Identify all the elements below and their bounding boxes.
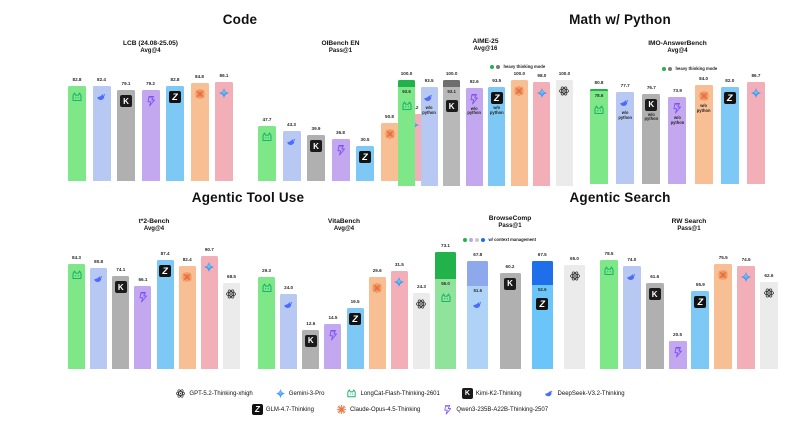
bar-group: 65.0 [564,241,585,369]
panel-subtitle: Avg@16 [398,46,573,54]
bar-value-label: 79.2 [146,81,155,86]
bar-group: 30.5Z [356,66,374,181]
glm-z-icon: Z [536,298,548,310]
sub-bar-value-label: 93.6 [402,89,411,94]
deepseek-whale-icon [93,273,105,285]
bar-group: 68.5 [223,244,240,369]
panel-title: LCB (24.08-25.05) [68,40,233,48]
plot-area: 73.156.067.851.660.2K67.552.6Z65.0 [435,241,585,369]
bar-value-label: 24.0 [284,285,293,290]
bar: 68.5 [223,283,240,369]
kimi-k-icon: K [446,100,458,112]
bar-value-label: 24.3 [417,284,426,289]
bar-value-label: 29.6 [373,268,382,273]
bar: 43.3 [283,131,301,181]
gemini-spark-icon [750,87,762,99]
bar: 47.7 [258,126,276,181]
longcat-icon [593,104,605,116]
bar-group: 29.6 [369,244,386,369]
bar-value-label: 31.5 [395,262,404,267]
bar: 39.9K [307,135,325,181]
section-title-code: Code [160,12,320,27]
bar-value-label: 80.8 [94,259,103,264]
bar-annotation: w/o python [618,111,632,120]
bar: 24.3 [413,293,430,369]
bar-group: 79.2 [142,66,160,181]
bar: 87.4Z [157,260,174,369]
bar-group: 39.9K [307,66,325,181]
bar-annotation: w/o python [644,113,658,122]
panel-lcb-24-08-25-05-: LCB (24.08-25.05)Avg@482.882.479.1K79.28… [68,40,233,181]
legend-item-label: GPT-5.2-Thinking-xhigh [189,391,252,397]
legend-item[interactable]: DeepSeek-V3.2-Thinking [544,388,625,399]
panel-subtitle: Avg@4 [258,226,430,234]
openai-flower-icon [763,287,775,299]
bar-annotation: w/o python [490,106,504,115]
kimi-k-icon: K [504,278,516,290]
sub-bar-value-label: 56.0 [441,281,450,286]
bar-group: 74.1K [112,244,129,369]
sub-bar-value-label: 51.6 [473,288,482,293]
bar-group: 82.8 [68,66,86,181]
deepseek-whale-icon [544,388,555,399]
bar-value-label: 12.6 [306,321,315,326]
bar-group: 100.0 [511,64,528,186]
bar: 86.7 [747,82,765,184]
bar-group: 84.0w/o python [695,66,713,184]
longcat-icon [440,292,452,304]
bar-value-label: 43.3 [287,122,296,127]
bar-value-label: 67.5 [538,252,547,257]
glm-z-icon: Z [349,313,361,325]
panel-t-2-bench: t*2-BenchAvg@484.380.874.1K66.187.4Z82.4… [68,218,240,369]
panel-browsecomp: BrowseCompPass@1w/ context management73.… [435,215,585,369]
bar: 20.5 [669,341,687,369]
bar: 82.8Z [166,86,184,181]
bar-group: 82.0Z [721,66,739,184]
bar-value-label: 100.0 [446,71,458,76]
bar-value-label: 86.1 [220,73,229,78]
bar-value-label: 93.5 [492,78,501,83]
bar-value-label: 66.1 [138,277,147,282]
deepseek-whale-icon [283,299,295,311]
bar: 80.8 [90,268,107,369]
legend-item-label: Claude-Opus-4.5-Thinking [350,407,420,413]
legend-item[interactable]: Gemini-3-Pro [275,388,325,399]
bar-group: 29.3 [258,244,275,369]
bar: 82.8 [68,86,86,181]
plot-area: 82.882.479.1K79.282.8Z84.886.1 [68,66,233,181]
legend-item-label: LongCat-Flash-Thinking-2601 [360,391,439,397]
bar: 74.1K [112,276,129,369]
bar-value-label: 80.8 [595,80,604,85]
glm-z-icon: Z [252,404,263,415]
claude-sunburst-icon [698,90,710,102]
bar: 80.878.6 [590,89,608,184]
bar-value-label: 61.6 [650,274,659,279]
panel-title: VitaBench [258,218,430,226]
legend-item[interactable]: KKimi-K2-Thinking [462,388,522,399]
bar-value-label: 74.0 [627,257,636,262]
bar-annotation: w/o python [697,104,711,113]
bar: 79.2 [142,90,160,181]
bar: 30.5Z [356,146,374,181]
gemini-spark-icon [740,271,752,283]
bar: 79.1K [117,90,135,181]
bar: 78.5 [600,260,618,369]
legend-item[interactable]: LongCat-Flash-Thinking-2601 [346,388,439,399]
panel-title: IMO-AnswerBench [590,40,765,48]
bar-group: 74.0 [623,244,641,369]
bar-group: 79.1K [117,66,135,181]
bar-value-label: 82.8 [73,77,82,82]
bar-group: 82.8Z [166,66,184,181]
bar-group: 100.093.1K [443,64,460,186]
bar-group: 84.3 [68,244,85,369]
panel-title: BrowseComp [435,215,585,223]
bar: 73.156.0 [435,252,456,369]
bar-group: 61.6K [646,244,664,369]
bar-value-label: 86.7 [751,73,760,78]
bar-group: 82.4 [179,244,196,369]
deepseek-whale-icon [286,136,298,148]
bar-value-label: 84.0 [699,76,708,81]
legend-item[interactable]: Qwen3-235B-A22B-Thinking-2507 [442,404,548,415]
bar-value-label: 100.0 [514,71,526,76]
bar: 93.5Zw/o python [488,87,505,186]
gemini-spark-icon [393,276,405,288]
claude-sunburst-icon [717,269,729,281]
bar: 55.9Z [691,291,709,369]
bar: 31.5 [391,271,408,369]
bar: 92.6w/o python [466,88,483,186]
bar-annotation: w/o python [422,106,436,115]
bar-value-label: 65.0 [570,256,579,261]
bar-value-label: 82.4 [97,77,106,82]
openai-flower-icon [225,288,237,300]
qwen-icon [442,404,453,415]
bar: 84.8 [191,83,209,181]
bar-group: 31.5 [391,244,408,369]
bar-group: 78.5 [600,244,618,369]
gemini-spark-icon [275,388,286,399]
bar: 29.3 [258,277,275,369]
longcat-icon [71,269,83,281]
bar-group: 98.0 [533,64,550,186]
panel-subtitle: Avg@4 [590,48,765,56]
openai-flower-icon [569,270,581,282]
qwen-icon [671,102,683,114]
bar: 100.0 [511,80,528,186]
gemini-spark-icon [218,87,230,99]
bar: 74.5 [737,266,755,369]
kimi-k-icon: K [120,95,132,107]
bar-group: 73.9w/o python [668,66,686,184]
bar-value-label: 30.5 [361,137,370,142]
bar-value-label: 90.7 [205,247,214,252]
bar-group: 19.5Z [347,244,364,369]
bar-group: 50.8 [381,66,399,181]
bar: 65.0 [564,265,585,369]
bar: 93.5w/o python [421,87,438,186]
gemini-spark-icon [536,87,548,99]
bar-value-label: 98.0 [537,73,546,78]
bar-group: 76.7Kw/o python [642,66,660,184]
bar: 84.3 [68,264,85,369]
bar-value-label: 20.5 [673,332,682,337]
section-title-search: Agentic Search [520,190,720,205]
bar: 14.5 [324,324,341,369]
bar-value-label: 73.9 [673,88,682,93]
bar-group: 87.4Z [157,244,174,369]
kimi-k-icon: K [645,99,657,111]
bar-value-label: 82.8 [171,77,180,82]
qwen-icon [137,291,149,303]
openai-flower-icon [415,298,427,310]
bar-group: 90.7 [201,244,218,369]
qwen-icon [672,346,684,358]
panel-rw-search: RW SearchPass@178.574.061.6K20.555.9Z75.… [600,218,778,369]
figure-legend: GPT-5.2-Thinking-xhighGemini-3-ProLongCa… [0,388,800,415]
bar-group: 47.7 [258,66,276,181]
deepseek-whale-icon [619,97,631,109]
bar-value-label: 78.5 [605,251,614,256]
bar-group: 84.8 [191,66,209,181]
bar-value-label: 55.9 [696,282,705,287]
kimi-k-icon: K [305,335,317,347]
legend-row-2: ZGLM-4.7-ThinkingClaude-Opus-4.5-Thinkin… [241,404,559,415]
bar: 67.552.6Z [532,261,553,369]
glm-z-icon: Z [169,91,181,103]
bar: 82.4 [93,86,111,181]
bar-group: 82.4 [93,66,111,181]
bar-value-label: 60.2 [506,264,515,269]
bar: 24.0 [280,294,297,369]
bar-value-label: 68.5 [227,274,236,279]
bar-group: 43.3 [283,66,301,181]
bar-value-label: 75.5 [719,255,728,260]
bar: 60.2K [500,273,521,369]
bar-group: 80.8 [90,244,107,369]
bar: 29.6 [369,277,386,370]
glm-z-icon: Z [491,92,503,104]
legend-item-label: GLM-4.7-Thinking [266,407,314,413]
deepseek-whale-icon [96,91,108,103]
bar-group: 14.5 [324,244,341,369]
bar-group: 24.0 [280,244,297,369]
bar-group: 36.8 [332,66,350,181]
claude-sunburst-icon [384,128,396,140]
bar: 12.6K [302,330,319,369]
bar-value-label: 39.9 [312,126,321,131]
kimi-k-icon: K [462,388,473,399]
bar: 100.0 [556,80,573,186]
bar-value-label: 84.3 [72,255,81,260]
bar-value-label: 92.6 [470,79,479,84]
bar: 61.6K [646,283,664,369]
bar-annotation: w/o python [467,107,481,116]
longcat-icon [346,388,357,399]
longcat-icon [401,100,413,112]
bar-value-label: 29.3 [262,268,271,273]
bar-group: 66.1 [134,244,151,369]
bar-value-label: 77.7 [621,83,630,88]
bar-group: 55.9Z [691,244,709,369]
bar: 82.4 [179,266,196,369]
longcat-icon [603,265,615,277]
sub-bar-value-label: 52.6 [538,287,547,292]
kimi-k-icon: K [649,288,661,300]
panel-subtitle: Avg@4 [68,48,233,56]
bar-value-label: 67.8 [473,252,482,257]
qwen-icon [327,329,339,341]
kimi-k-icon: K [310,140,322,152]
plot-area: 80.878.677.7w/o python76.7Kw/o python73.… [590,66,765,184]
bar-group: 77.7w/o python [616,66,634,184]
bar-value-label: 93.5 [425,78,434,83]
figure-root: Code Math w/ Python Agentic Tool Use Age… [0,0,800,421]
longcat-icon [261,131,273,143]
plot-area: 100.093.693.5w/o python100.093.1K92.6w/o… [398,64,573,186]
gemini-spark-icon [203,261,215,273]
deepseek-whale-icon [423,92,435,104]
bar: 36.8 [332,139,350,181]
bar: 77.7w/o python [616,92,634,184]
kimi-k-icon: K [115,281,127,293]
glm-z-icon: Z [359,151,371,163]
openai-flower-icon [558,85,570,97]
bar-value-label: 87.4 [161,251,170,256]
bar-value-label: 82.0 [725,78,734,83]
bar-value-label: 82.4 [183,257,192,262]
sub-bar-value-label: 78.6 [595,93,604,98]
longcat-icon [261,282,273,294]
bar: 86.1 [215,82,233,181]
bar-group: 93.5w/o python [421,64,438,186]
bar-value-label: 100.0 [401,71,413,76]
bar: 82.0Z [721,87,739,184]
plot-area: 84.380.874.1K66.187.4Z82.490.768.5 [68,244,240,369]
bar: 75.5 [714,264,732,369]
glm-z-icon: Z [724,92,736,104]
panel-imo-answerbench: IMO-AnswerBenchAvg@4heavy thinking mode8… [590,40,765,184]
bar-value-label: 47.7 [263,117,272,122]
section-title-tools: Agentic Tool Use [148,190,348,205]
bar-value-label: 100.0 [559,71,571,76]
bar-group: 74.5 [737,244,755,369]
bar-value-label: 73.1 [441,243,450,248]
bar-group: 20.5 [669,244,687,369]
bar-value-label: 74.5 [742,257,751,262]
bar-group: 24.3 [413,244,430,369]
panel-vitabench: VitaBenchAvg@429.324.012.6K14.519.5Z29.6… [258,218,430,369]
panel-aime-25: AIME-25Avg@16heavy thinking mode100.093.… [398,38,573,186]
bar-value-label: 14.5 [328,315,337,320]
bar: 50.8 [381,123,399,181]
bar-group: 93.5Zw/o python [488,64,505,186]
qwen-icon [145,95,157,107]
panel-title: t*2-Bench [68,218,240,226]
bar-group: 67.851.6 [467,241,488,369]
openai-flower-icon [175,388,186,399]
section-title-math: Math w/ Python [520,12,720,27]
bar: 100.093.6 [398,80,415,186]
legend-item[interactable]: GPT-5.2-Thinking-xhigh [175,388,252,399]
bar-group: 80.878.6 [590,66,608,184]
plot-area: 78.574.061.6K20.555.9Z75.574.562.6 [600,244,778,369]
bar-group: 62.6 [760,244,778,369]
bar-value-label: 50.8 [385,114,394,119]
sub-bar-value-label: 93.1 [447,89,456,94]
bar: 84.0w/o python [695,85,713,184]
deepseek-whale-icon [472,299,484,311]
bar: 19.5Z [347,308,364,369]
bar-value-label: 76.7 [647,85,656,90]
qwen-icon [468,93,480,105]
qwen-icon [335,144,347,156]
legend-item[interactable]: Claude-Opus-4.5-Thinking [336,404,420,415]
panel-title: AIME-25 [398,38,573,46]
bar-value-label: 62.6 [764,273,773,278]
bar-value-label: 36.8 [336,130,345,135]
claude-sunburst-icon [181,271,193,283]
legend-item-label: Kimi-K2-Thinking [476,391,522,397]
bar-group: 75.5 [714,244,732,369]
glm-z-icon: Z [159,265,171,277]
glm-z-icon: Z [694,296,706,308]
bar-value-label: 19.5 [351,299,360,304]
legend-item[interactable]: ZGLM-4.7-Thinking [252,404,314,415]
bar-value-label: 74.1 [116,267,125,272]
bar-group: 73.156.0 [435,241,456,369]
plot-area: 29.324.012.6K14.519.5Z29.631.524.3 [258,244,430,369]
legend-row-1: GPT-5.2-Thinking-xhighGemini-3-ProLongCa… [164,388,635,399]
bar: 100.093.1K [443,80,460,186]
bar: 67.851.6 [467,261,488,369]
bar-value-label: 84.8 [195,74,204,79]
panel-subtitle: Pass@1 [600,226,778,234]
bar: 73.9w/o python [668,97,686,184]
bar-group: 100.0 [556,64,573,186]
bar: 62.6 [760,282,778,369]
bar: 98.0 [533,82,550,186]
bar: 74.0 [623,266,641,369]
claude-sunburst-icon [371,282,383,294]
panel-subtitle: Avg@4 [68,226,240,234]
claude-sunburst-icon [513,85,525,97]
bar-group: 86.7 [747,66,765,184]
bar: 90.7 [201,256,218,369]
bar-group: 92.6w/o python [466,64,483,186]
panel-title: RW Search [600,218,778,226]
legend-item-label: Qwen3-235B-A22B-Thinking-2507 [456,407,548,413]
bar-group: 67.552.6Z [532,241,553,369]
bar: 76.7Kw/o python [642,94,660,185]
longcat-icon [71,91,83,103]
bar-annotation: w/o python [671,116,685,125]
bar-value-label: 79.1 [122,81,131,86]
panel-subtitle: Pass@1 [435,223,585,231]
legend-item-label: Gemini-3-Pro [289,391,325,397]
bar-group: 12.6K [302,244,319,369]
bar-group: 100.093.6 [398,64,415,186]
deepseek-whale-icon [626,271,638,283]
legend-item-label: DeepSeek-V3.2-Thinking [558,391,625,397]
bar-group: 86.1 [215,66,233,181]
bar-group: 60.2K [500,241,521,369]
claude-sunburst-icon [194,88,206,100]
bar: 66.1 [134,286,151,369]
